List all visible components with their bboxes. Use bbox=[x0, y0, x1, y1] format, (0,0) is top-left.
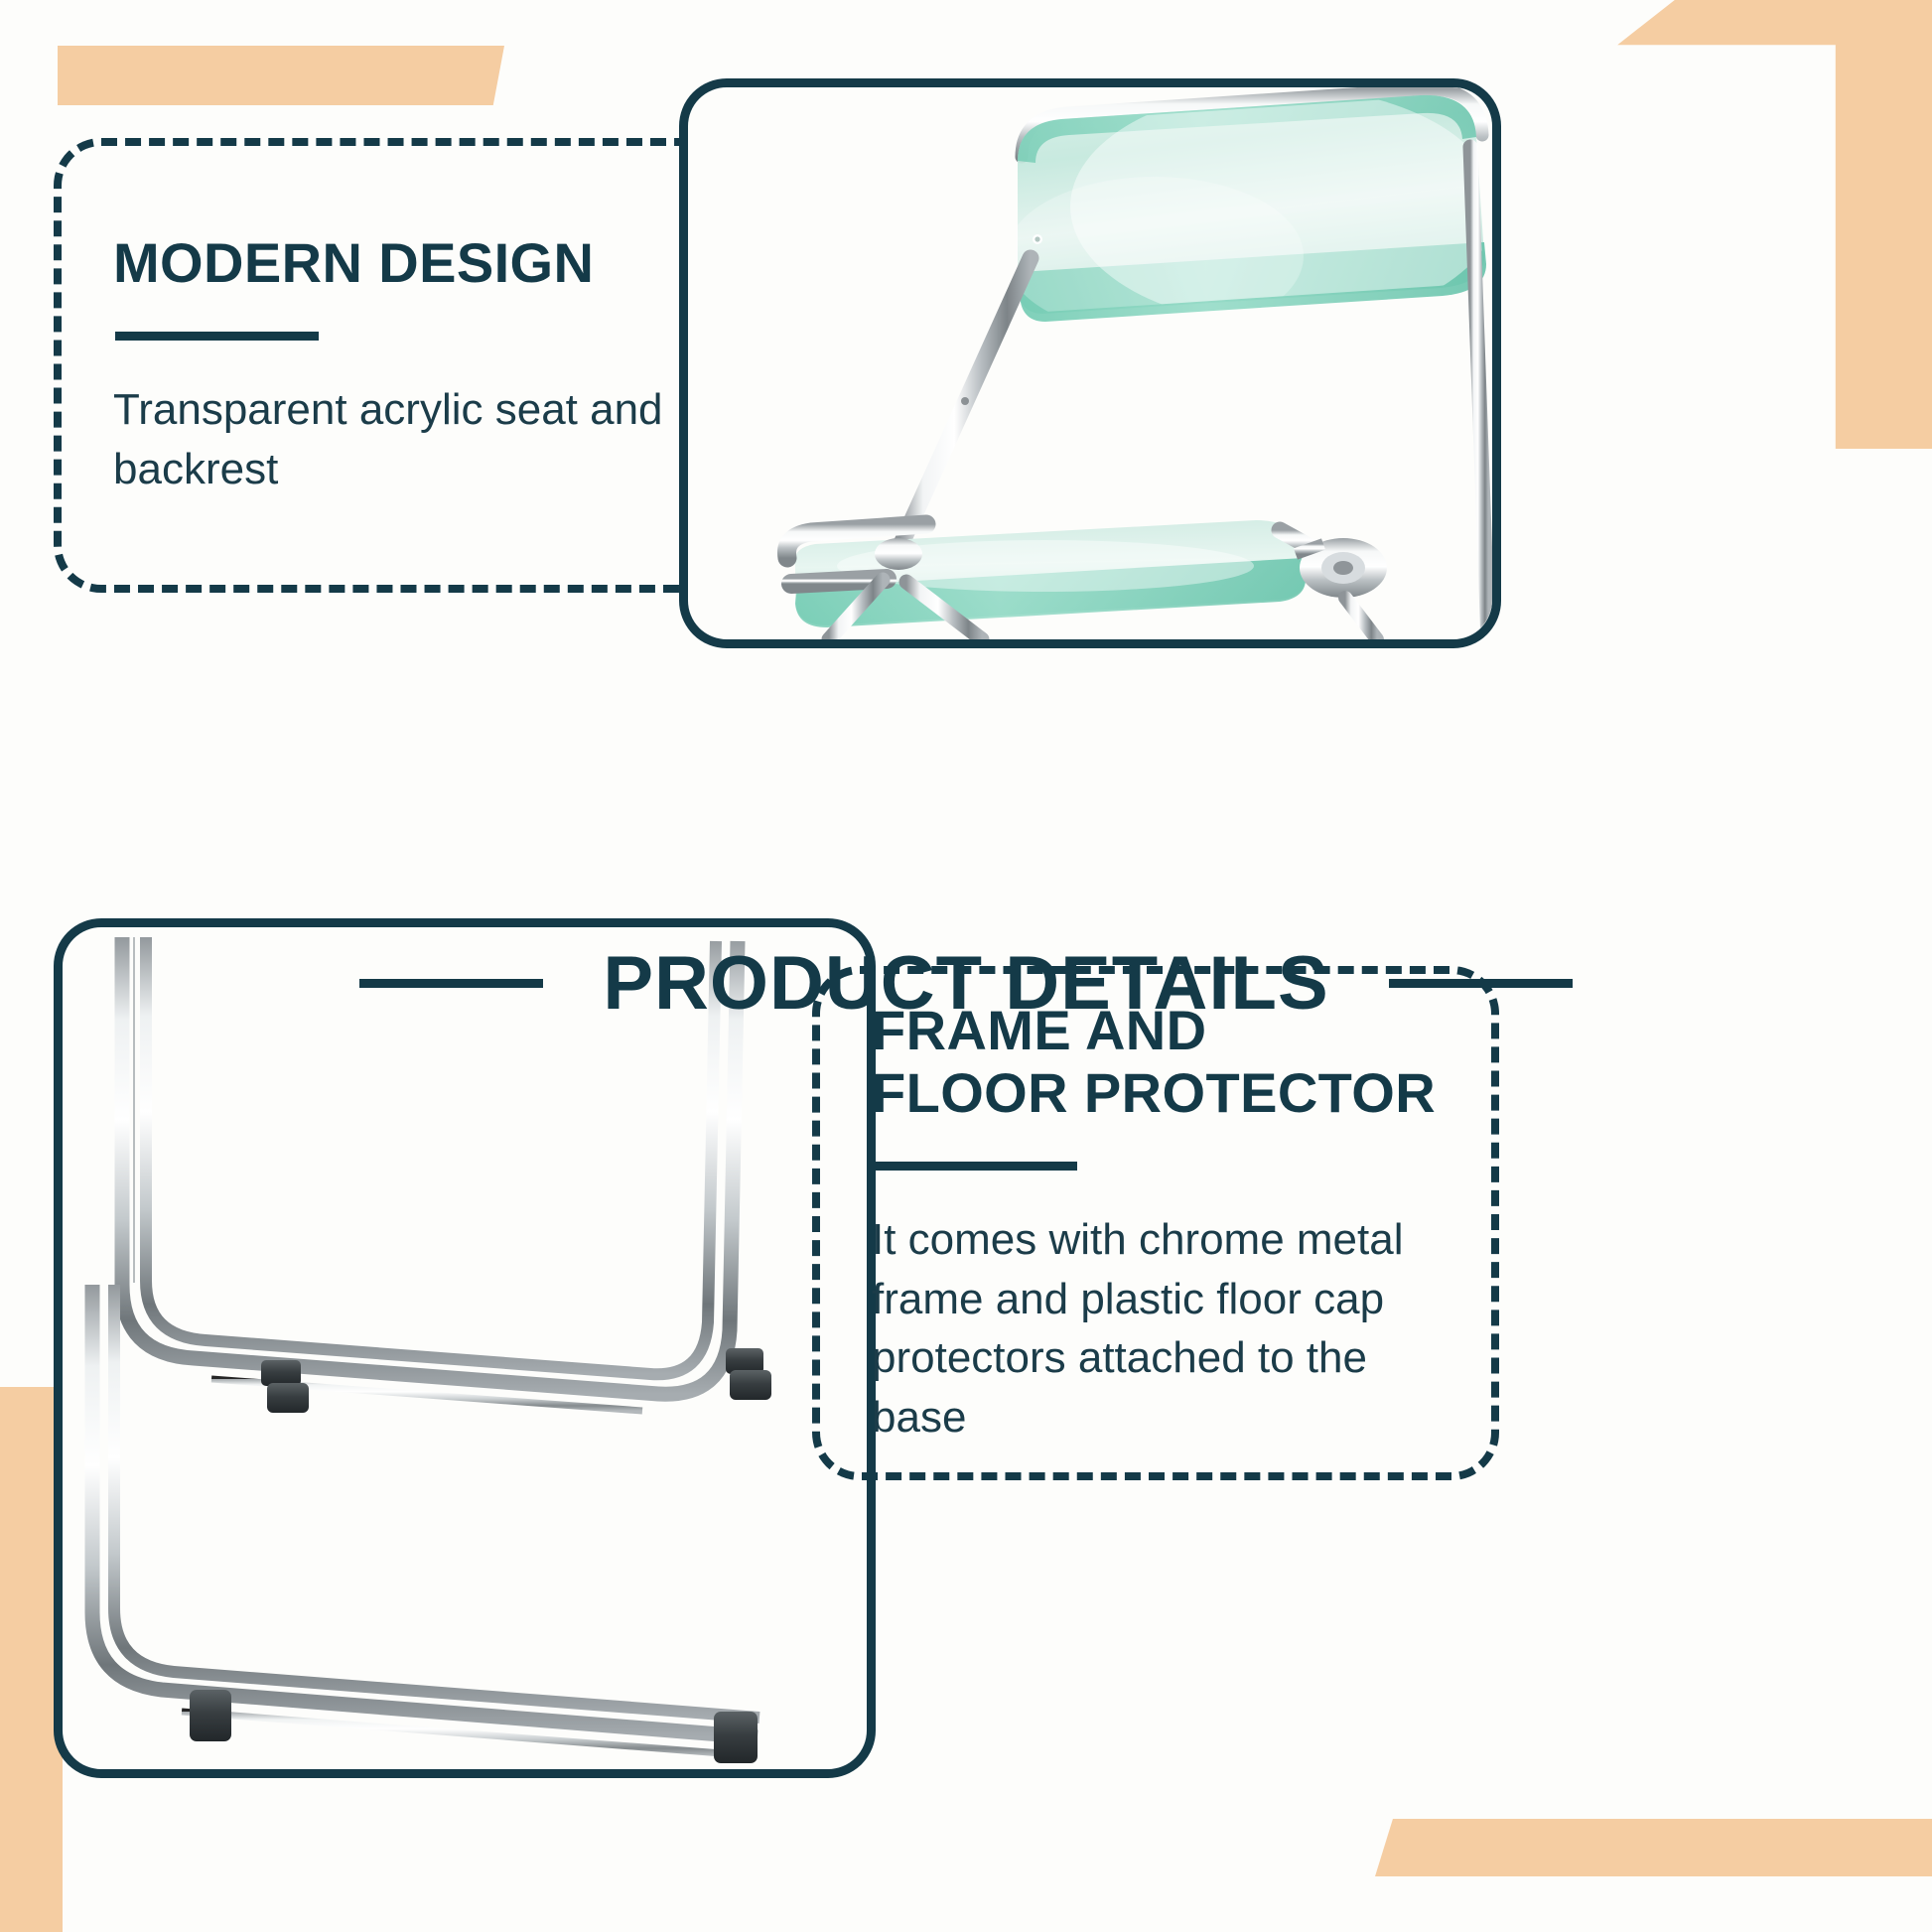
card-modern-design-rule bbox=[115, 332, 319, 341]
chair-frame-base-photo bbox=[63, 927, 867, 1769]
photo-card-chair-frame-base bbox=[54, 918, 876, 1778]
peach-bar-top-left bbox=[58, 46, 504, 105]
floor-cap-upper-right bbox=[726, 1348, 771, 1400]
chair-upper-illustration bbox=[688, 87, 1492, 639]
card-modern-design: MODERN DESIGN Transparent acrylic seat a… bbox=[54, 138, 739, 593]
floor-cap-upper-left-top bbox=[261, 1360, 301, 1386]
card-frame-body: It comes with chrome metal frame and pla… bbox=[872, 1210, 1440, 1447]
infographic-canvas: MODERN DESIGN Transparent acrylic seat a… bbox=[0, 0, 1932, 1932]
hinge-pin bbox=[1333, 561, 1353, 575]
peach-bar-bottom-right bbox=[1375, 1819, 1932, 1876]
card-modern-design-body: Transparent acrylic seat and backrest bbox=[113, 380, 679, 498]
backrest-rivet-center bbox=[1035, 236, 1039, 241]
section-heading-rule-left bbox=[359, 979, 543, 988]
floor-cap-upper-left-bottom bbox=[267, 1383, 309, 1413]
seat-center-hinge bbox=[875, 538, 922, 570]
photo-card-chair-upper bbox=[679, 78, 1501, 648]
strut-rivet bbox=[961, 397, 969, 405]
card-frame-content: FRAME AND FLOOR PROTECTOR It comes with … bbox=[820, 974, 1491, 1472]
seat-hinge-assembly bbox=[1296, 538, 1387, 598]
card-modern-design-title: MODERN DESIGN bbox=[113, 232, 679, 295]
section-heading-text: PRODUCT DETAILS bbox=[603, 940, 1328, 1027]
chair-upper-photo bbox=[688, 87, 1492, 639]
back-leg-right bbox=[1470, 147, 1488, 639]
card-frame-and-floor-protector: FRAME AND FLOOR PROTECTOR It comes with … bbox=[812, 966, 1499, 1480]
floor-cap-lower-left bbox=[190, 1690, 231, 1741]
floor-cap-lower-right bbox=[714, 1712, 758, 1763]
peach-shape-top-right bbox=[1575, 0, 1932, 449]
section-heading-rule-right bbox=[1389, 979, 1573, 988]
rear-leg-c bbox=[1345, 598, 1377, 639]
chair-frame-illustration bbox=[63, 927, 867, 1769]
card-frame-rule bbox=[874, 1162, 1077, 1171]
floor-cap-lower-right-body bbox=[714, 1712, 758, 1763]
section-heading: PRODUCT DETAILS bbox=[0, 923, 1932, 1042]
card-frame-title-line2: FLOOR PROTECTOR bbox=[872, 1061, 1436, 1124]
floor-cap-upper-right-bottom bbox=[730, 1370, 771, 1400]
card-modern-design-content: MODERN DESIGN Transparent acrylic seat a… bbox=[62, 146, 731, 585]
lower-frame-tube-inner bbox=[114, 1285, 759, 1718]
floor-cap-lower-left-body bbox=[190, 1690, 231, 1741]
